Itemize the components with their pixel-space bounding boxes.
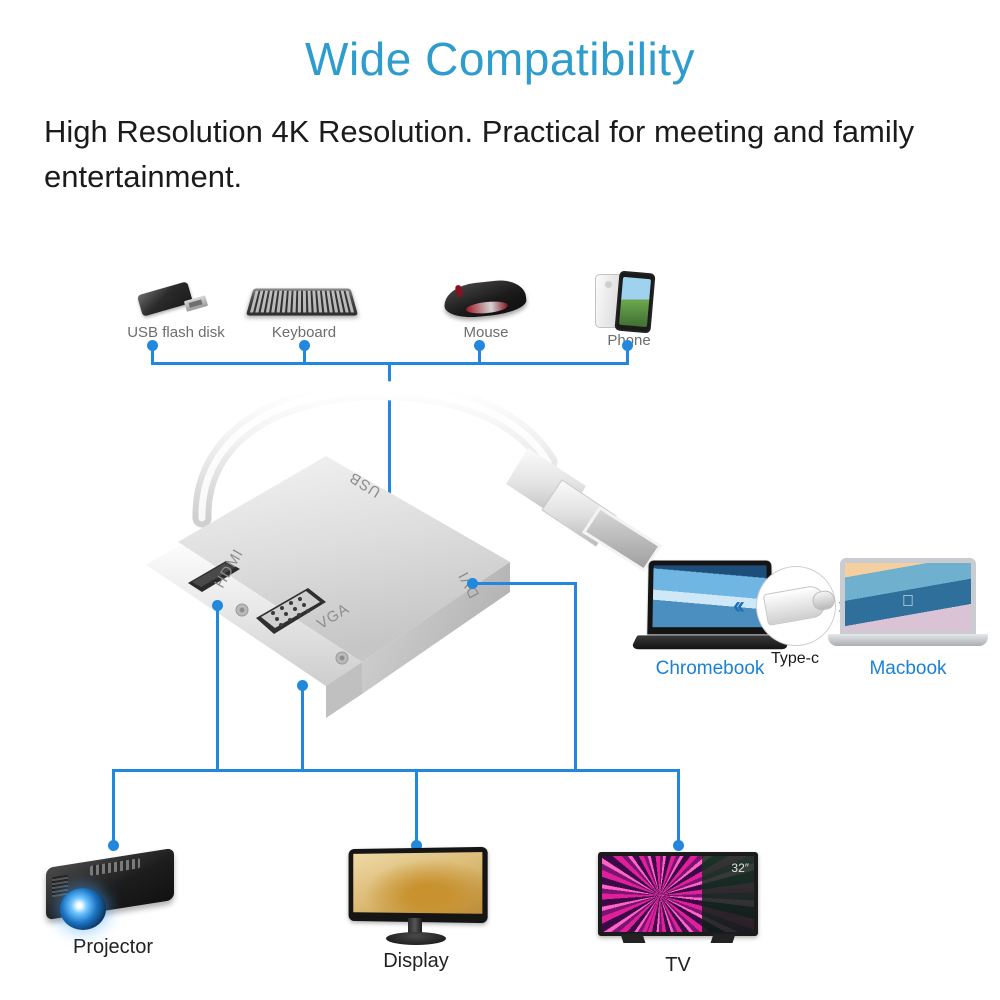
connector-dot-usb-flash-disk [147,340,158,351]
connector-dot-phone [622,340,633,351]
connector-drop-tv [677,769,680,845]
connector-drop-display [415,769,418,845]
infographic-canvas: Wide Compatibility High Resolution 4K Re… [0,0,1000,1000]
device-label-projector: Projector [38,936,188,959]
projector-icon [38,848,188,934]
type-c-badge: Type-c [756,566,834,668]
device-projector: Projector [38,848,188,959]
usb-c-plug-icon [756,566,836,646]
device-label-display: Display [346,950,486,973]
device-mouse: Mouse [438,276,534,341]
host-label-macbook: Macbook [828,658,988,680]
keyboard-icon [250,280,358,322]
usb-c-connector [506,448,660,570]
device-label-keyboard: Keyboard [250,324,358,341]
connector-dot-keyboard [299,340,310,351]
monitor-icon [346,848,486,948]
connector-dot-tv [673,840,684,851]
type-c-label: Type-c [756,650,834,668]
device-usb-flash-disk: USB flash disk [118,278,234,341]
smartphone-icon [591,272,667,330]
page-subtitle: High Resolution 4K Resolution. Practical… [44,110,954,200]
connector-hdmi-vertical [216,605,219,770]
page-title: Wide Compatibility [0,36,1000,82]
device-label-tv: TV [598,954,758,977]
arrow-left-icon: ‹‹ [733,592,741,620]
device-keyboard: Keyboard [250,280,358,341]
device-label-usb-flash-disk: USB flash disk [118,324,234,341]
connector-dot-mouse [474,340,485,351]
connector-vga-vertical [301,685,304,770]
connector-bus-bottom [112,769,680,772]
device-tv: 32″ TV [598,852,758,977]
mouse-icon [440,276,532,322]
usb-flash-drive-icon [137,278,215,322]
device-display: Display [346,848,486,973]
tv-size-badge: 32″ [731,861,749,875]
connector-dvi-horizontal [472,582,577,585]
apple-logo-icon:  [902,594,914,610]
macbook-laptop-icon:  [828,558,988,656]
host-macbook:  Macbook [828,558,988,680]
connector-dvi-vertical [574,582,577,770]
device-phone: Phone [590,272,668,349]
connector-drop-projector [112,769,115,845]
television-icon: 32″ [598,852,758,952]
device-label-mouse: Mouse [438,324,534,341]
